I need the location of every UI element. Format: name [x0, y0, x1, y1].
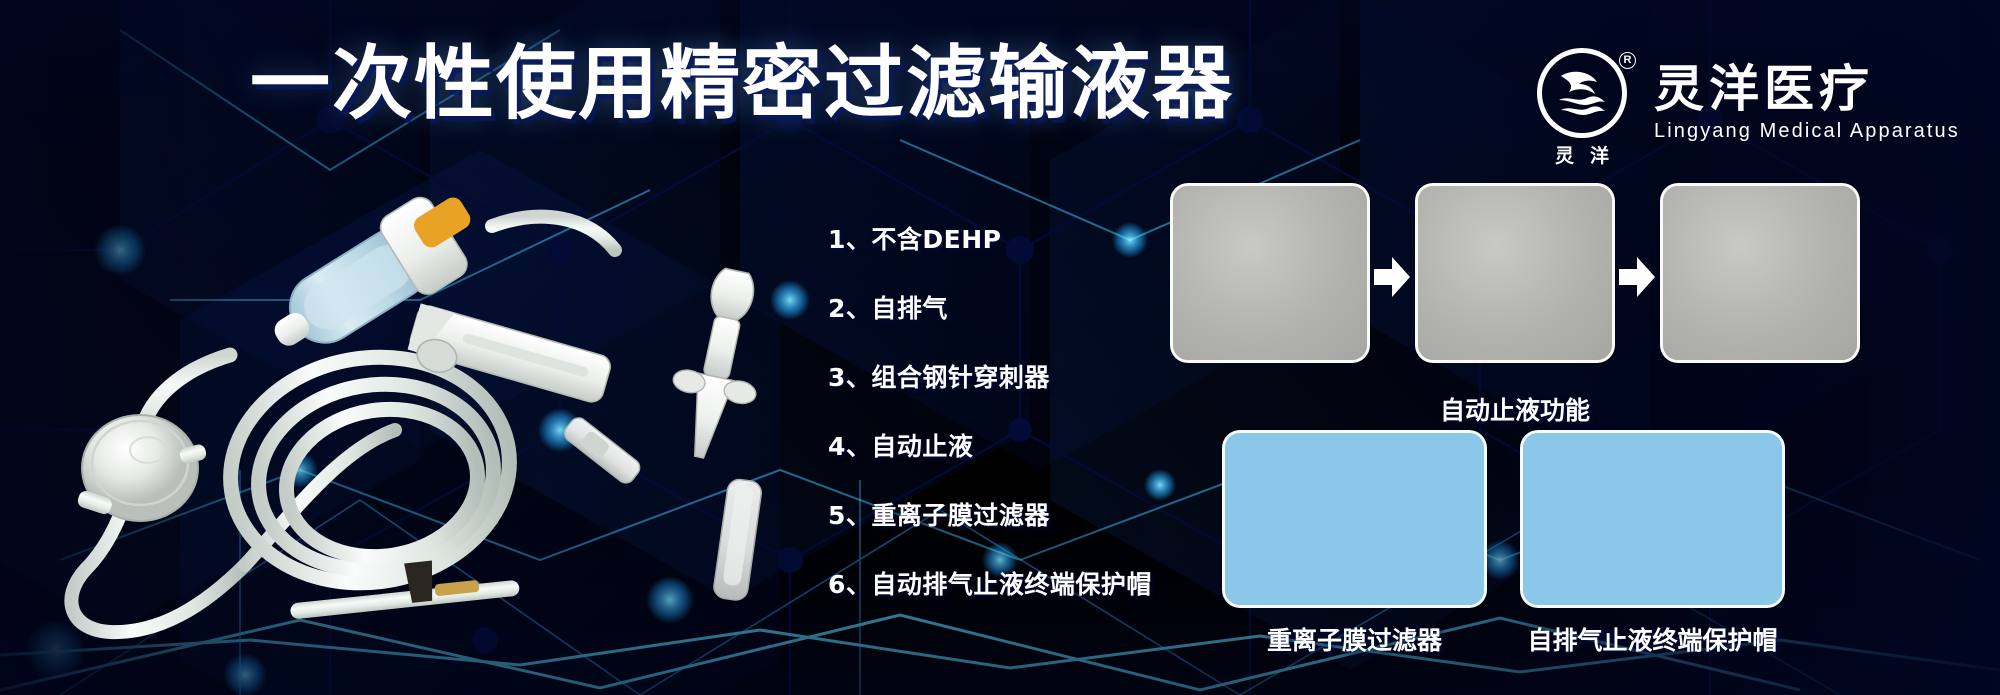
- circular-wave-emblem-icon: [1537, 48, 1627, 138]
- self-venting-terminal-cap-photo: [1520, 430, 1785, 608]
- arrow-right-icon-1: [1372, 255, 1412, 299]
- registered-trademark-icon: R: [1619, 52, 1636, 69]
- component-caption-1: 重离子膜过滤器: [1222, 621, 1487, 657]
- auto-stop-step-2-photo: [1415, 183, 1615, 363]
- infusion-set-illustration: [40, 150, 830, 670]
- feature-item-3: 3、组合钢针穿刺器: [828, 358, 1188, 394]
- feature-item-5: 5、重离子膜过滤器: [828, 496, 1188, 532]
- page-title: 一次性使用精密过滤输液器: [250, 36, 1050, 132]
- feature-item-6: 6、自动排气止液终端保护帽: [828, 565, 1188, 601]
- steel-needle-spike-part: [658, 263, 780, 466]
- component-caption-2: 自排气止液终端保护帽: [1500, 621, 1805, 657]
- product-banner: 一次性使用精密过滤输液器 R 灵洋 灵洋医疗 Lingyang Medical …: [0, 0, 2000, 695]
- emblem-wrap: R 灵洋: [1528, 48, 1636, 156]
- feature-item-4: 4、自动止液: [828, 427, 1188, 463]
- brand-name-en: Lingyang Medical Apparatus: [1654, 120, 1960, 143]
- wave-bird-icon: [1551, 62, 1613, 124]
- auto-stop-step-1-photo: [1170, 183, 1370, 363]
- arrow-right-icon-2: [1617, 255, 1657, 299]
- brand-logo: R 灵洋 灵洋医疗 Lingyang Medical Apparatus: [1528, 48, 1960, 156]
- protective-sheath-part: [712, 478, 762, 602]
- heavy-ion-membrane-filter-photo: [1222, 430, 1487, 608]
- feature-item-2: 2、自排气: [828, 289, 1188, 325]
- brand-name-cn: 灵洋医疗: [1654, 63, 1960, 115]
- product-photo: [40, 150, 830, 670]
- emblem-chinese-name: 灵洋: [1528, 141, 1636, 168]
- feature-item-1: 1、不含DEHP: [828, 220, 1188, 256]
- auto-stop-step-3-photo: [1660, 183, 1860, 363]
- brand-text: 灵洋医疗 Lingyang Medical Apparatus: [1654, 61, 1960, 143]
- feature-list: 1、不含DEHP 2、自排气 3、组合钢针穿刺器 4、自动止液 5、重离子膜过滤…: [828, 220, 1188, 601]
- sequence-caption: 自动止液功能: [1170, 391, 1860, 427]
- round-filter-part: [76, 415, 207, 521]
- inline-connector-part: [561, 414, 643, 486]
